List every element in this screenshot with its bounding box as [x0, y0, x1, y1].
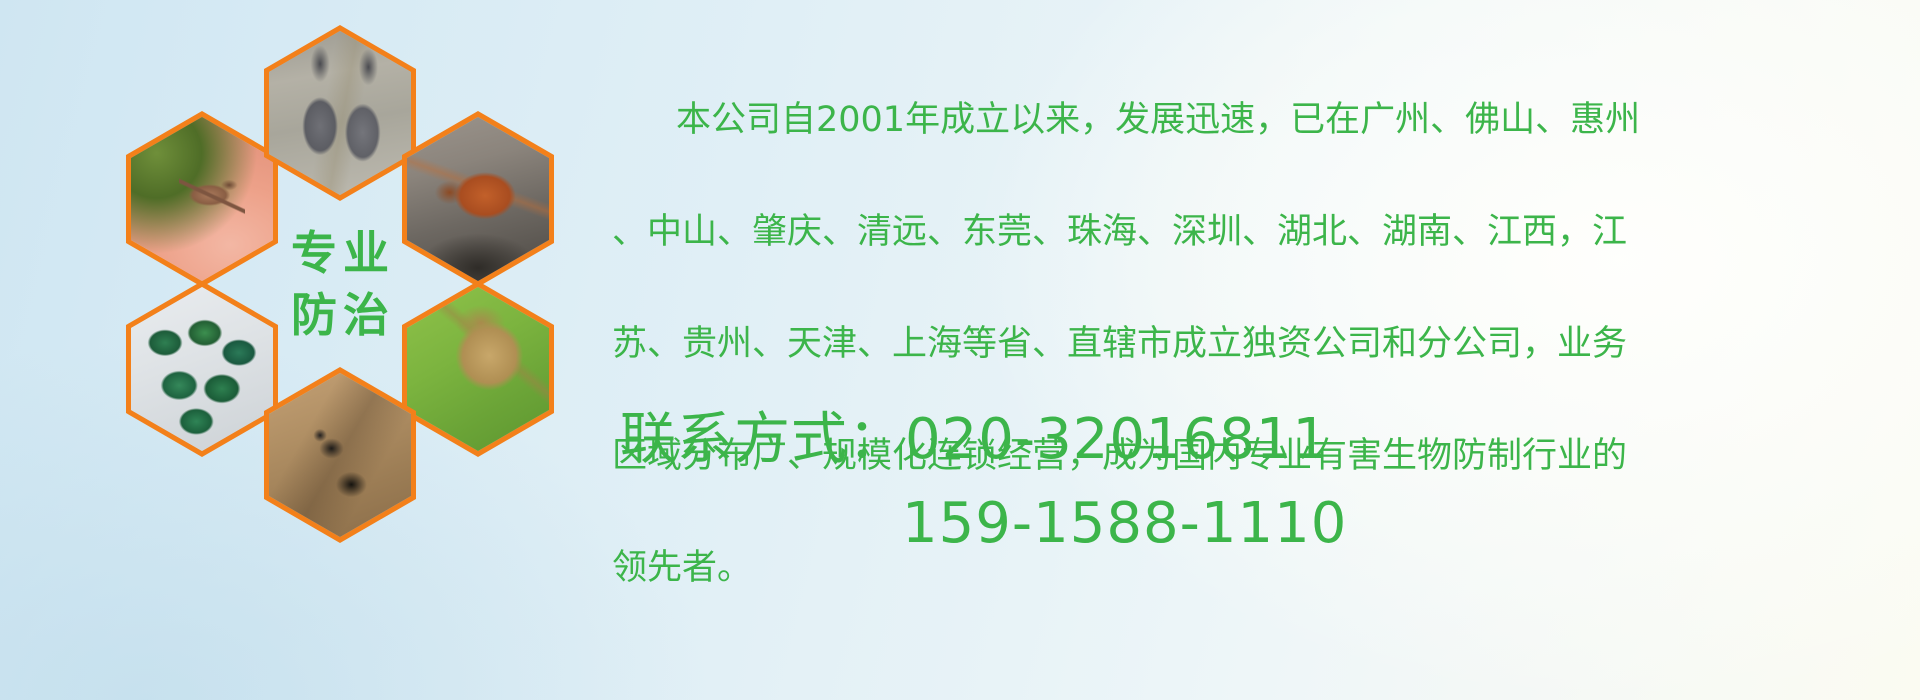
hex-cell-flies [126, 281, 278, 457]
intro-line-1: 本公司自2001年成立以来，发展迅速，已在广州、佛山、惠州 [612, 92, 1912, 148]
rats-photo [269, 31, 411, 195]
hex-cell-cockroach [402, 111, 554, 287]
mosquito-photo [131, 117, 273, 281]
cockroach-photo [407, 117, 549, 281]
hex-cell-mosquito [126, 111, 278, 287]
hex-image-frame [131, 117, 273, 281]
slogan-line-2: 防治 [285, 284, 395, 346]
slogan-badge: 专业 防治 [269, 202, 411, 366]
intro-line-3: 苏、贵州、天津、上海等省、直辖市成立独资公司和分公司，业务 [612, 316, 1912, 372]
honeycomb-cluster: 专业 防治 [96, 0, 596, 564]
hex-cell-ant [264, 367, 416, 543]
hex-slogan-frame: 专业 防治 [269, 202, 411, 366]
hex-image-frame [269, 373, 411, 537]
flies-photo [131, 287, 273, 451]
hex-image-frame [407, 287, 549, 451]
banner-root: 专业 防治 本公司自2001年成立以来，发展迅速，已在广州、佛山、惠州 、中山、… [0, 0, 1920, 700]
contact-mobile-line[interactable]: 159-1588-1110 [620, 482, 1347, 566]
slogan-line-1: 专业 [285, 222, 395, 284]
contact-block: 联系方式：020-32016811 159-1588-1110 [620, 398, 1347, 566]
stinkbug-photo [407, 287, 549, 451]
contact-phone-line[interactable]: 联系方式：020-32016811 [620, 407, 1329, 472]
hex-image-frame [407, 117, 549, 281]
hex-image-frame [131, 287, 273, 451]
hex-cell-rats [264, 25, 416, 201]
hex-cell-stinkbug [402, 281, 554, 457]
intro-line-2: 、中山、肇庆、清远、东莞、珠海、深圳、湖北、湖南、江西，江 [612, 204, 1912, 260]
hex-cell-slogan: 专业 防治 [264, 196, 416, 372]
hex-image-frame [269, 31, 411, 195]
ant-photo [269, 373, 411, 537]
